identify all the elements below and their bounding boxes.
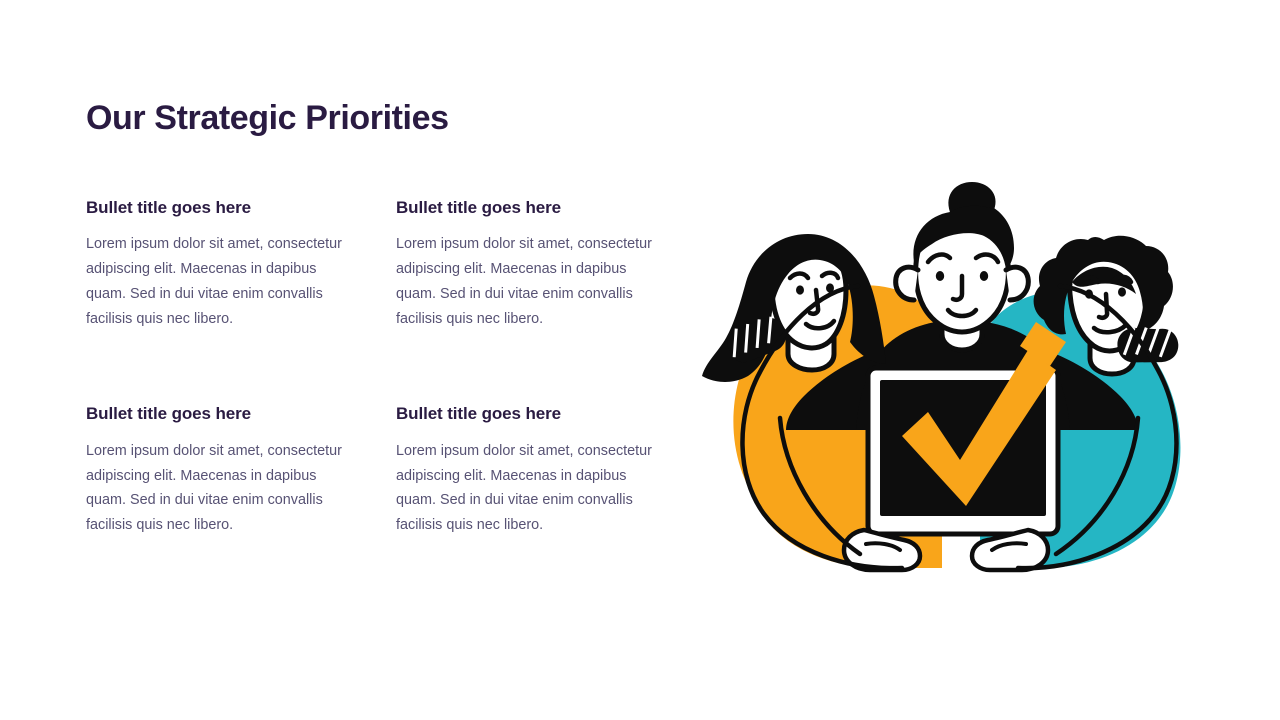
right-person-right-eye bbox=[1118, 287, 1126, 296]
bullet-body-2: Lorem ipsum dolor sit amet, consectetur … bbox=[396, 232, 658, 331]
bullet-title-3: Bullet title goes here bbox=[86, 404, 348, 424]
center-person-right-eye bbox=[980, 271, 988, 281]
bullet-item-3: Bullet title goes here Lorem ipsum dolor… bbox=[86, 404, 348, 537]
bullet-title-1: Bullet title goes here bbox=[86, 198, 348, 218]
bullet-body-3: Lorem ipsum dolor sit amet, consectetur … bbox=[86, 439, 348, 538]
bullet-body-4: Lorem ipsum dolor sit amet, consectetur … bbox=[396, 439, 658, 538]
page-title: Our Strategic Priorities bbox=[86, 99, 449, 138]
left-person-left-eye bbox=[796, 285, 804, 294]
center-person-left-eye bbox=[936, 271, 944, 281]
bullet-body-1: Lorem ipsum dolor sit amet, consectetur … bbox=[86, 232, 348, 331]
bullet-item-4: Bullet title goes here Lorem ipsum dolor… bbox=[396, 404, 658, 537]
bullet-title-2: Bullet title goes here bbox=[396, 198, 658, 218]
teamwork-checkmark-illustration bbox=[688, 178, 1232, 600]
bullet-title-4: Bullet title goes here bbox=[396, 404, 658, 424]
bullet-item-2: Bullet title goes here Lorem ipsum dolor… bbox=[396, 198, 658, 331]
center-person-left-ear bbox=[896, 267, 918, 300]
bullet-grid: Bullet title goes here Lorem ipsum dolor… bbox=[86, 198, 666, 538]
slide-canvas: Our Strategic Priorities Bullet title go… bbox=[0, 0, 1280, 720]
bullet-item-1: Bullet title goes here Lorem ipsum dolor… bbox=[86, 198, 348, 331]
center-person-right-ear bbox=[1006, 267, 1028, 300]
